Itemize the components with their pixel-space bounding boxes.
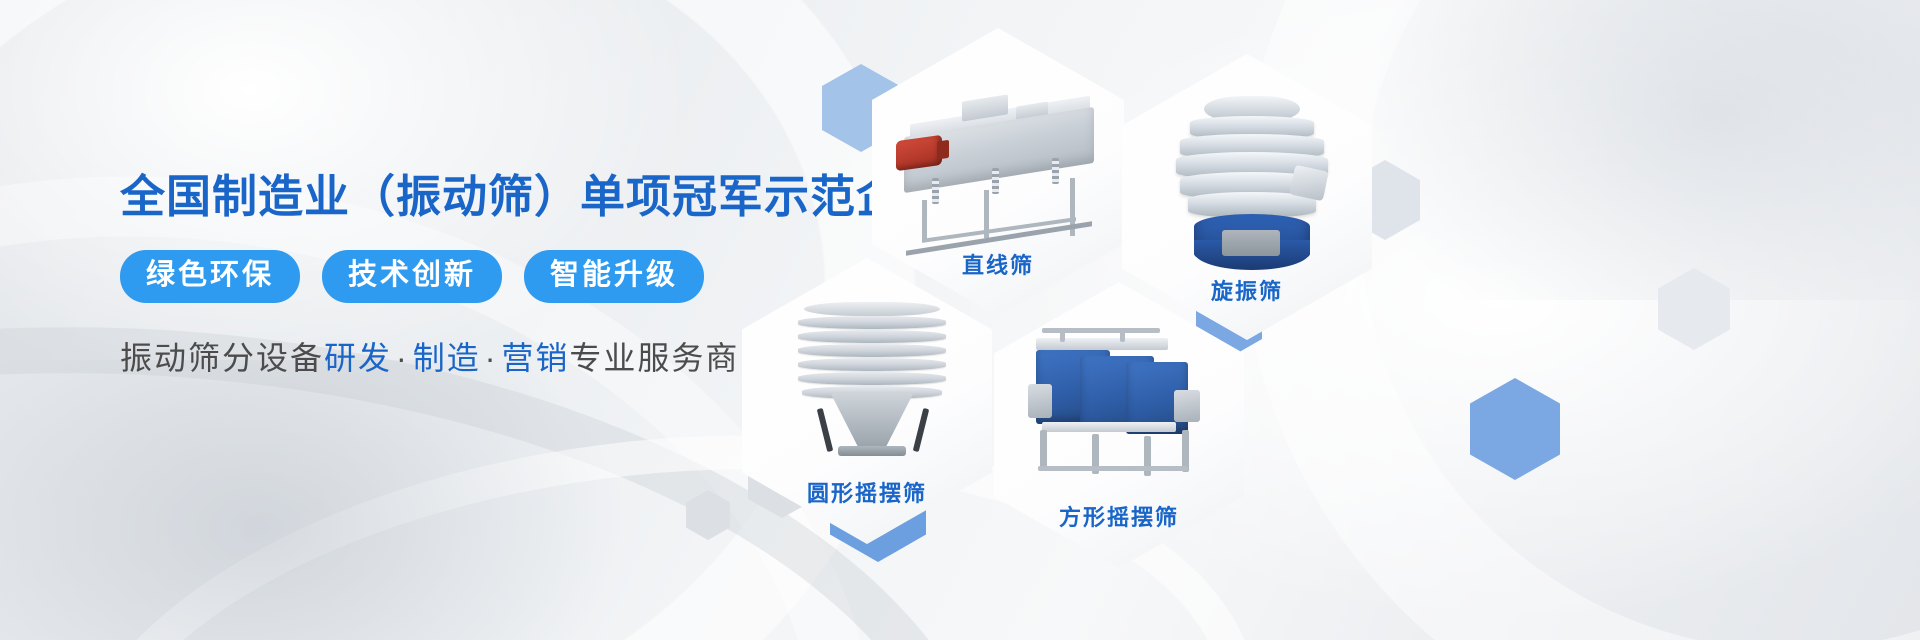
product-label-linear-vibrating-screen: 直线筛 <box>962 248 1034 280</box>
feature-tag-green-eco[interactable]: 绿色环保 <box>120 250 300 303</box>
feature-tag-smart-upgrade[interactable]: 智能升级 <box>524 250 704 303</box>
product-hexagon-rotary-vibrating-screen[interactable]: 旋振筛 <box>1122 54 1372 340</box>
subtitle-prefix: 振动筛分设备 <box>120 340 324 376</box>
banner-headline: 全国制造业（振动筛）单项冠军示范企业 <box>120 170 880 224</box>
product-hexagon-linear-vibrating-screen[interactable]: 直线筛 <box>872 28 1124 316</box>
subtitle-separator-1: · <box>392 340 413 376</box>
decorative-hexagon-gray-small <box>686 490 730 540</box>
subtitle-highlight-manufacture: 制造 <box>413 340 481 376</box>
feature-tag-row: 绿色环保 技术创新 智能升级 <box>120 250 880 303</box>
subtitle-suffix: 专业服务商 <box>569 340 739 376</box>
feature-tag-tech-innovation[interactable]: 技术创新 <box>322 250 502 303</box>
square-swing-screen-illustration <box>1016 326 1228 502</box>
round-swing-screen-illustration <box>768 288 976 478</box>
hero-banner: 全国制造业（振动筛）单项冠军示范企业 绿色环保 技术创新 智能升级 振动筛分设备… <box>0 0 1920 640</box>
decorative-hexagon-blue-bottom-right <box>1470 378 1560 480</box>
background-shadow-top-right <box>1360 0 1920 300</box>
product-label-round-swing-screen: 圆形摇摆筛 <box>807 476 927 508</box>
product-label-square-swing-screen: 方形摇摆筛 <box>1059 500 1179 532</box>
background-shadow-bottom-left <box>0 360 640 640</box>
linear-vibrating-screen-illustration <box>888 86 1110 256</box>
decorative-hexagon-gray-right-edge <box>1658 268 1730 350</box>
subtitle-highlight-rd: 研发 <box>324 340 392 376</box>
subtitle-separator-2: · <box>481 340 502 376</box>
product-label-rotary-vibrating-screen: 旋振筛 <box>1211 274 1283 306</box>
subtitle-highlight-marketing: 营销 <box>501 340 569 376</box>
rotary-vibrating-screen-illustration <box>1150 90 1354 276</box>
product-hexagon-square-swing-screen[interactable]: 方形摇摆筛 <box>994 282 1244 568</box>
